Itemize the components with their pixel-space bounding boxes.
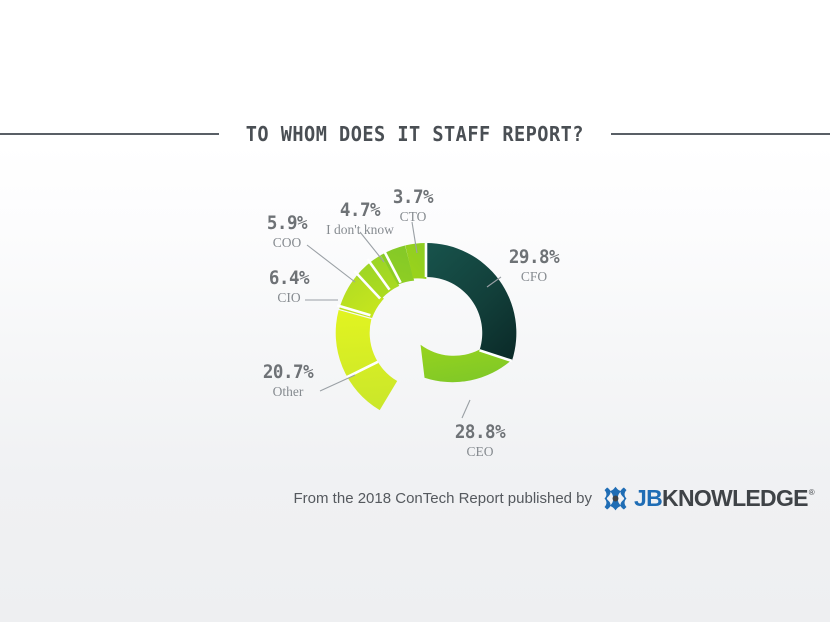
- callout-ceo: 28.8% CEO: [440, 423, 520, 461]
- jbknowledge-emblem-icon: [602, 485, 629, 512]
- callout-other: 20.7% Other: [252, 363, 324, 401]
- callout-cfo-pct: 29.8%: [495, 248, 572, 268]
- callout-other-pct: 20.7%: [255, 363, 321, 383]
- segment-other: [318, 302, 418, 410]
- callout-cio-cat: CIO: [258, 290, 320, 307]
- callout-coo-pct: 5.9%: [257, 214, 318, 234]
- callout-i-dont-know-cat: I don't know: [310, 222, 410, 239]
- title-rule-left: [0, 133, 219, 135]
- callout-cio-pct: 6.4%: [260, 269, 317, 289]
- callout-i-dont-know: 4.7% I don't know: [310, 201, 410, 239]
- title-row: TO WHOM DOES IT STAFF REPORT?: [0, 119, 830, 149]
- callout-cfo-cat: CFO: [492, 269, 576, 286]
- jbknowledge-wordmark: JBKNOWLEDGE®: [634, 487, 814, 510]
- callout-other-cat: Other: [252, 384, 324, 401]
- footer-credit: From the 2018 ConTech Report published b…: [294, 490, 593, 507]
- footer: From the 2018 ConTech Report published b…: [0, 481, 830, 515]
- page-title: TO WHOM DOES IT STAFF REPORT?: [246, 122, 584, 146]
- infographic-page: TO WHOM DOES IT STAFF REPORT?: [0, 0, 830, 622]
- logo-trademark: ®: [809, 489, 814, 497]
- logo-knowledge-text: KNOWLEDGE: [662, 487, 808, 510]
- callout-coo: 5.9% COO: [254, 214, 320, 252]
- logo-jb-text: JB: [634, 487, 662, 510]
- title-rule-right: [611, 133, 830, 135]
- donut-segments: [318, 241, 516, 410]
- callout-i-dont-know-pct: 4.7%: [314, 201, 406, 221]
- callout-coo-cat: COO: [254, 235, 320, 252]
- callout-cio: 6.4% CIO: [258, 269, 320, 307]
- jbknowledge-logo[interactable]: JBKNOWLEDGE®: [602, 485, 814, 512]
- callout-ceo-pct: 28.8%: [443, 423, 517, 443]
- callout-cfo: 29.8% CFO: [492, 248, 576, 286]
- callout-ceo-cat: CEO: [440, 444, 520, 461]
